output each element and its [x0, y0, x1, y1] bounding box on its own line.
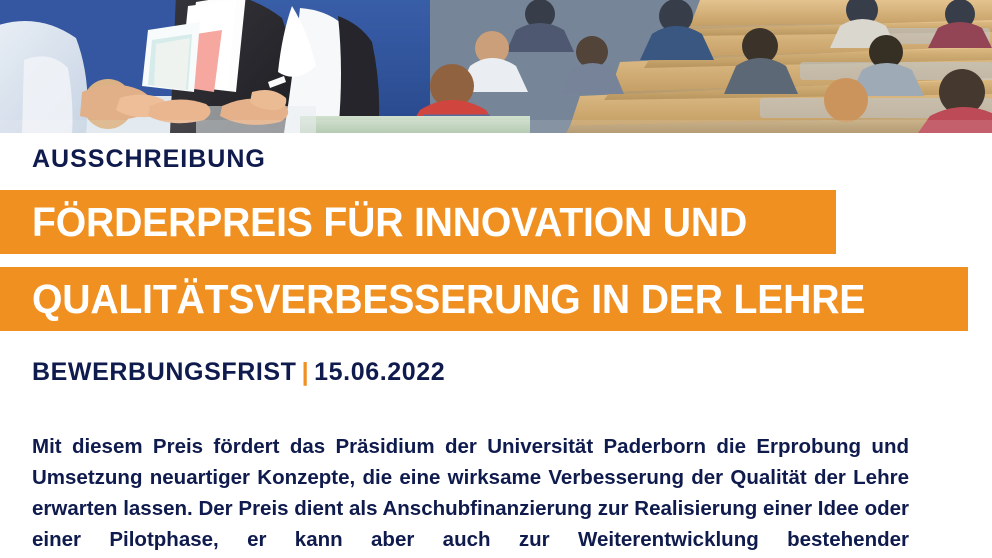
body-copy: Mit diesem Preis fördert das Präsidium d… — [32, 431, 909, 558]
kicker-ausschreibung: AUSSCHREIBUNG — [32, 146, 266, 172]
deadline-label: BEWERBUNGSFRIST — [32, 358, 297, 386]
title-line2-text: QUALITÄTSVERBESSERUNG IN DER LEHRE — [32, 279, 865, 320]
deadline-separator: | — [297, 358, 315, 386]
lecture-hall-award-photo — [0, 0, 992, 133]
body-paragraph: Mit diesem Preis fördert das Präsidium d… — [32, 431, 909, 558]
title-line1-text: FÖRDERPREIS FÜR INNOVATION UND — [32, 202, 747, 243]
deadline-date: 15.06.2022 — [314, 358, 445, 386]
title-banner-line1: FÖRDERPREIS FÜR INNOVATION UND — [0, 190, 836, 254]
title-banner-line2: QUALITÄTSVERBESSERUNG IN DER LEHRE — [0, 267, 968, 331]
poster-page: AUSSCHREIBUNG FÖRDERPREIS FÜR INNOVATION… — [0, 0, 992, 558]
deadline-line: BEWERBUNGSFRIST|15.06.2022 — [32, 359, 445, 385]
